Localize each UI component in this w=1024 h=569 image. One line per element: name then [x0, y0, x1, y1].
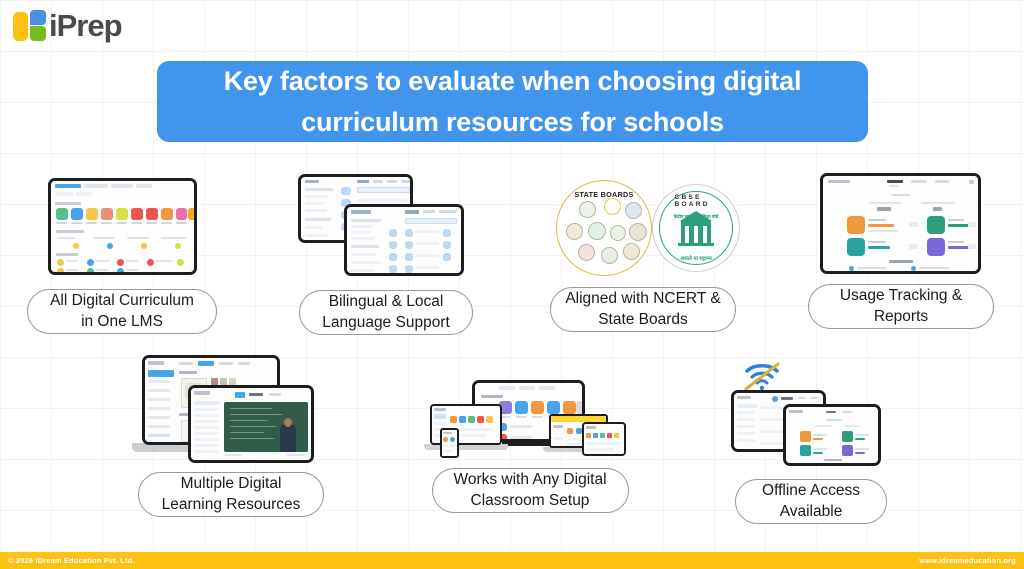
feature-card-bilingual-local-language: Bilingual & Local Language Support [288, 172, 484, 335]
tablet-screen [191, 388, 311, 460]
state-emblem [625, 202, 642, 219]
card-label: Bilingual & Local Language Support [299, 290, 473, 335]
state-emblem [588, 222, 606, 240]
wifi-off-icon [743, 362, 781, 392]
tablet-device [48, 178, 197, 275]
card-visual [288, 172, 484, 280]
state-emblem [629, 223, 647, 241]
cbse-board-seal: CBSE BOARD केंद्रीय माध्यमिक शिक्षा बोर्… [652, 184, 740, 272]
page-title: Key factors to evaluate when choosing di… [179, 61, 846, 142]
title-banner: Key factors to evaluate when choosing di… [157, 61, 868, 142]
tablet-device [188, 385, 314, 463]
state-emblem [601, 247, 618, 264]
feature-card-works-with-any-classroom-setup: Works with Any Digital Classroom Setup [430, 378, 630, 513]
tablet-device [820, 173, 981, 274]
video-lesson-thumbnail [224, 402, 308, 452]
state-emblem [623, 243, 640, 260]
cbse-emblem-icon [676, 209, 716, 251]
logo-block-yellow [13, 12, 28, 41]
feature-card-all-digital-curriculum: All Digital Curriculum in One LMS [14, 178, 230, 334]
card-label: Works with Any Digital Classroom Setup [432, 468, 629, 513]
feature-card-offline-access-available: Offline Access Available [736, 362, 888, 524]
tablet-device-front [344, 204, 464, 276]
card-label: Aligned with NCERT & State Boards [550, 287, 736, 332]
feature-card-usage-tracking-reports: Usage Tracking & Reports [806, 173, 996, 329]
card-visual [723, 362, 901, 464]
card-label: All Digital Curriculum in One LMS [27, 289, 217, 334]
feature-card-aligned-ncert-state-boards: STATE BOARDS CBSE BOARD केंद्रीय माध्यमि… [548, 180, 738, 332]
tablet-device-small [582, 422, 626, 456]
card-visual [430, 378, 630, 462]
card-label: Usage Tracking & Reports [808, 284, 994, 329]
tablet-screen [584, 424, 624, 454]
feature-card-multiple-digital-learning-resources: Multiple Digital Learning Resources [130, 355, 332, 517]
state-emblem [579, 201, 596, 218]
tablet-screen [347, 207, 461, 273]
state-boards-title: STATE BOARDS [557, 190, 651, 199]
logo-block-blue [30, 10, 46, 25]
tablet-screen [786, 407, 878, 463]
tablet-screen [823, 176, 978, 271]
card-label: Multiple Digital Learning Resources [138, 472, 324, 517]
card-visual [14, 178, 230, 278]
cbse-motto: असतो मा सद्गमय [653, 254, 739, 262]
logo-wordmark: iPrep [49, 9, 122, 42]
state-emblem [604, 198, 621, 215]
state-emblem [610, 225, 626, 241]
logo-mark [13, 9, 47, 42]
card-visual [130, 355, 332, 465]
slide-canvas: iPrep Key factors to evaluate when choos… [0, 0, 1024, 569]
cbse-arc-text: CBSE BOARD [675, 194, 718, 208]
iprep-logo: iPrep [13, 9, 122, 42]
footer-bar: © 2026 iDream Education Pvt. Ltd. www.id… [0, 552, 1024, 569]
tablet-screen [51, 181, 194, 272]
phone-device [440, 428, 459, 458]
card-visual [806, 173, 996, 276]
state-emblem [566, 223, 583, 240]
phone-screen [442, 430, 457, 456]
card-visual: STATE BOARDS CBSE BOARD केंद्रीय माध्यमि… [548, 180, 738, 280]
logo-block-green [30, 26, 46, 41]
footer-website[interactable]: www.idreameducation.org [919, 556, 1016, 565]
footer-copyright: © 2026 iDream Education Pvt. Ltd. [8, 556, 135, 565]
state-emblem [578, 244, 595, 261]
card-label: Offline Access Available [735, 479, 887, 524]
tablet-device-front [783, 404, 881, 466]
state-boards-seal: STATE BOARDS [556, 180, 652, 276]
